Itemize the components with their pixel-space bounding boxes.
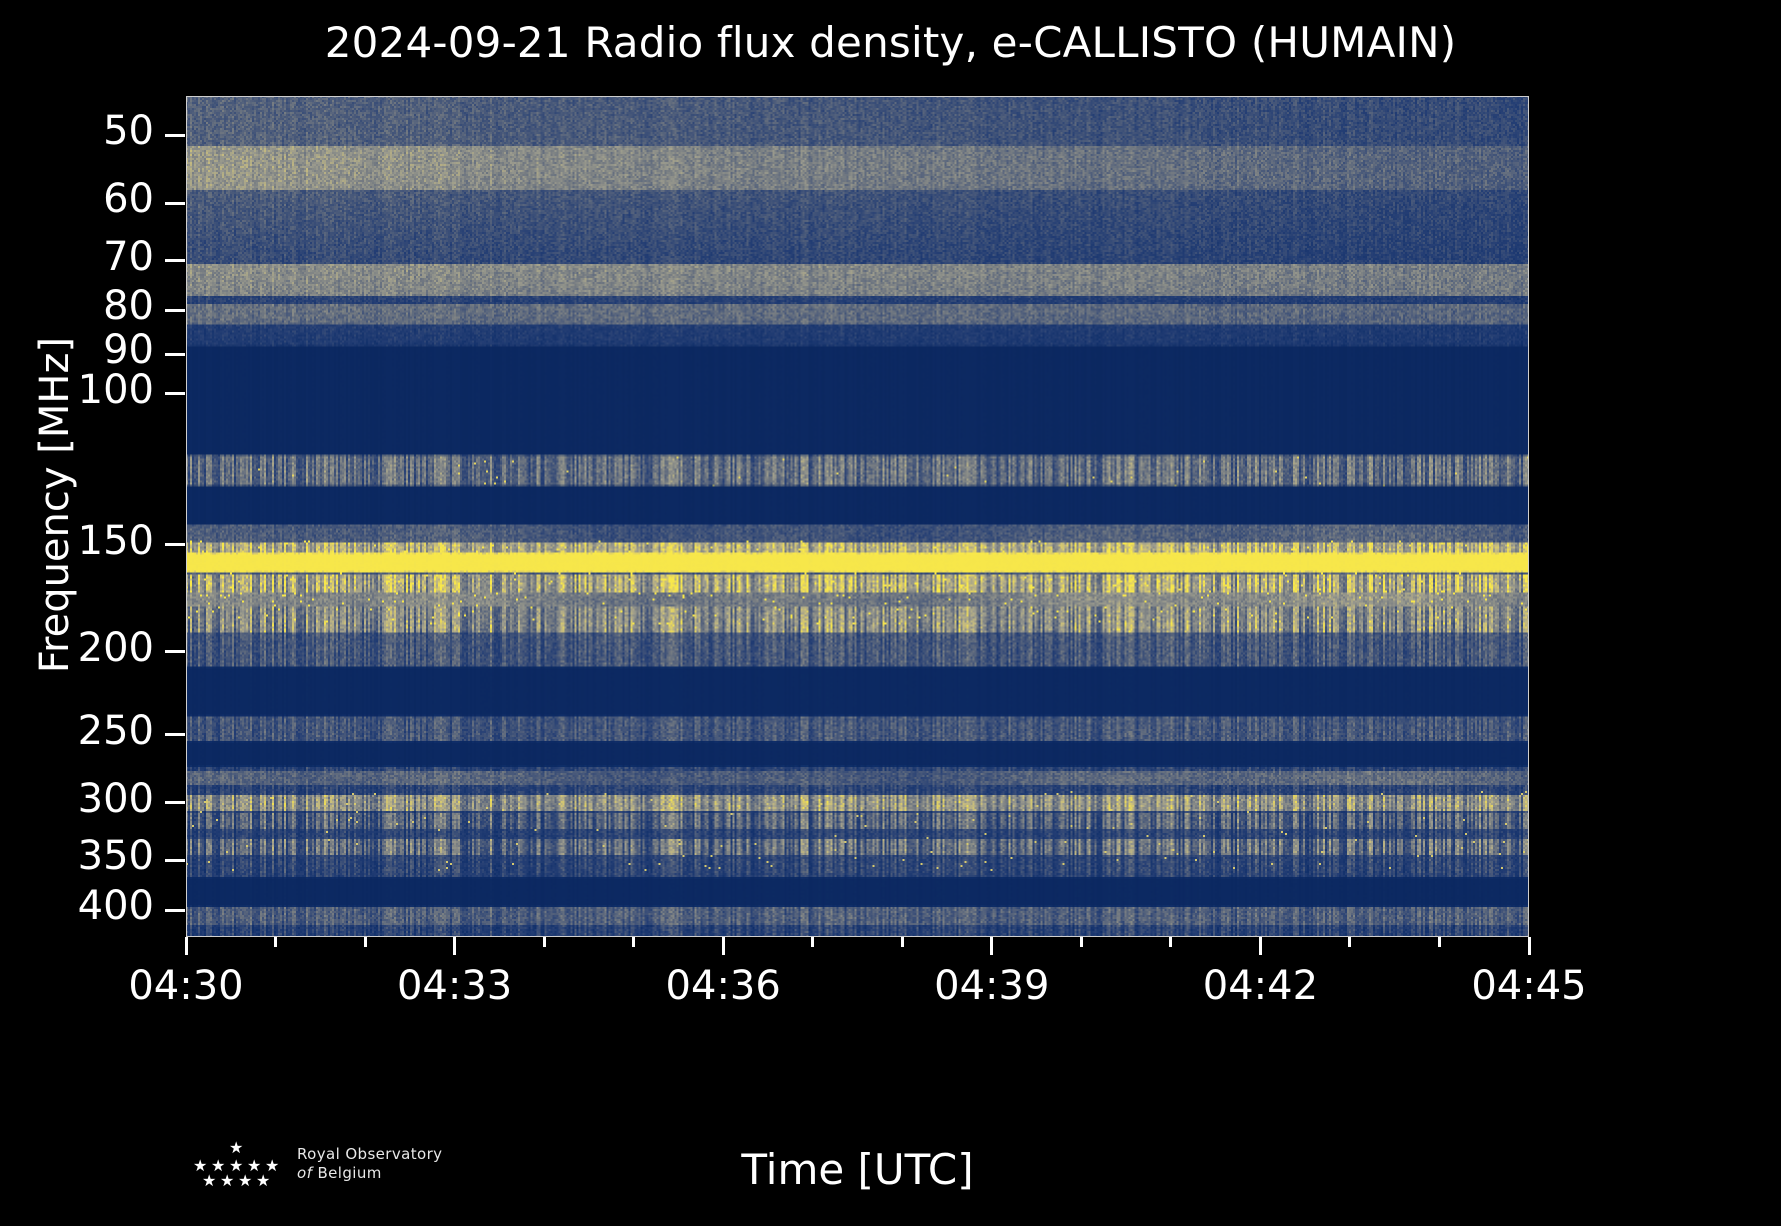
- y-tick-label: 400: [0, 883, 154, 929]
- x-tick-minor: [543, 937, 546, 947]
- spectrogram-image: [186, 96, 1529, 937]
- y-tick-mark: [165, 134, 185, 137]
- y-tick-mark: [165, 202, 185, 205]
- x-tick-label: 04:45: [1409, 963, 1649, 1009]
- y-axis-label: Frequency [MHz]: [32, 305, 78, 705]
- x-tick-minor: [274, 937, 277, 947]
- royal-observatory-logo: ★★★★★★★★★★ Royal Observatory of Belgium: [185, 1140, 442, 1188]
- y-tick-mark: [165, 353, 185, 356]
- x-tick-minor: [811, 937, 814, 947]
- y-tick-label: 70: [0, 234, 154, 280]
- star-icon: ★: [202, 1173, 216, 1189]
- logo-text: Royal Observatory of Belgium: [297, 1145, 442, 1183]
- page-title: 2024-09-21 Radio flux density, e-CALLIST…: [0, 18, 1781, 67]
- x-tick-mark: [990, 937, 993, 955]
- y-tick-mark: [165, 543, 185, 546]
- x-tick-mark: [453, 937, 456, 955]
- y-tick-mark: [165, 909, 185, 912]
- star-icon: ★: [220, 1173, 234, 1189]
- y-tick-label: 250: [0, 708, 154, 754]
- y-tick-mark: [165, 259, 185, 262]
- logo-of-word: of: [297, 1164, 312, 1182]
- spectrogram-figure: 2024-09-21 Radio flux density, e-CALLIST…: [0, 0, 1781, 1226]
- x-tick-minor: [1438, 937, 1441, 947]
- x-tick-mark: [185, 937, 188, 955]
- star-icon: ★: [256, 1173, 270, 1189]
- x-tick-minor: [1169, 937, 1172, 947]
- star-icon: ★: [229, 1140, 243, 1156]
- x-tick-label: 04:33: [335, 963, 575, 1009]
- x-tick-label: 04:39: [872, 963, 1112, 1009]
- y-tick-mark: [165, 309, 185, 312]
- x-tick-label: 04:36: [603, 963, 843, 1009]
- spectrogram-plot-area: [186, 96, 1529, 937]
- x-tick-minor: [1080, 937, 1083, 947]
- y-tick-mark: [165, 650, 185, 653]
- y-tick-mark: [165, 733, 185, 736]
- star-icon: ★: [238, 1173, 252, 1189]
- y-tick-label: 300: [0, 776, 154, 822]
- x-tick-label: 04:30: [66, 963, 306, 1009]
- x-tick-mark: [1528, 937, 1531, 955]
- y-tick-label: 350: [0, 833, 154, 879]
- y-tick-mark: [165, 859, 185, 862]
- x-tick-mark: [722, 937, 725, 955]
- y-tick-label: 60: [0, 176, 154, 222]
- x-tick-minor: [632, 937, 635, 947]
- logo-line-1: Royal Observatory: [297, 1145, 442, 1164]
- x-tick-mark: [1259, 937, 1262, 955]
- logo-belgium-word: Belgium: [317, 1164, 381, 1182]
- y-tick-mark: [165, 392, 185, 395]
- logo-line-2: of Belgium: [297, 1164, 442, 1183]
- x-tick-label: 04:42: [1140, 963, 1380, 1009]
- stars-icon: ★★★★★★★★★★: [185, 1140, 285, 1188]
- x-tick-minor: [364, 937, 367, 947]
- x-tick-minor: [1348, 937, 1351, 947]
- y-tick-mark: [165, 801, 185, 804]
- x-tick-minor: [901, 937, 904, 947]
- y-tick-label: 50: [0, 108, 154, 154]
